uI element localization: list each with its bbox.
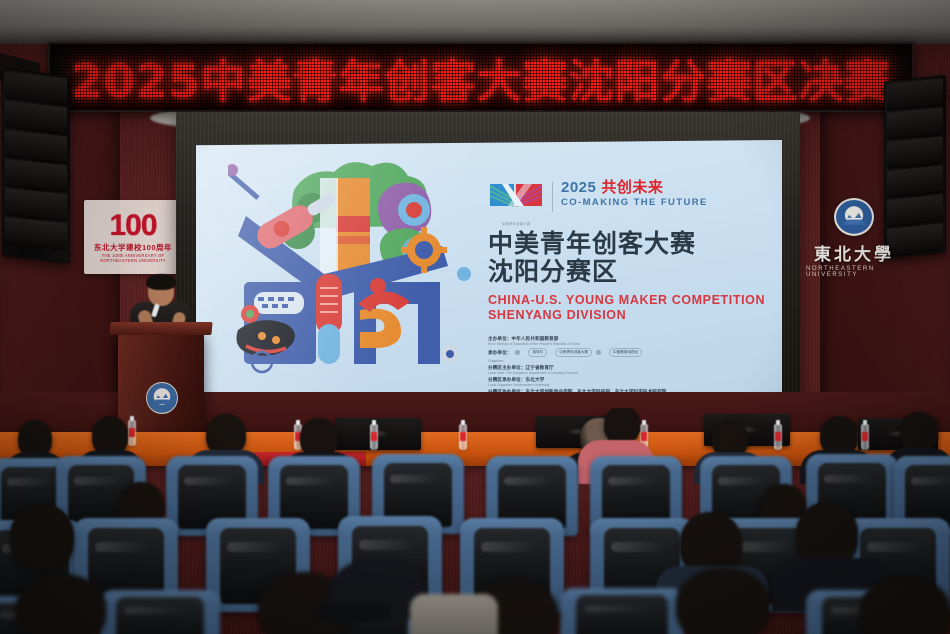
attendee-head <box>16 574 106 634</box>
credit-item: 分赛区主办单位：辽宁省教育厅 Local Host: The Education… <box>488 365 766 375</box>
credit-english: Local Organizer: Northeastern University <box>488 383 766 387</box>
sponsor-mark-icon <box>596 350 601 355</box>
attendee-head <box>860 576 950 634</box>
co-making-the-future-logo-icon: 中美青年创客大赛 <box>488 180 544 214</box>
anniversary-number: 100 <box>109 212 156 240</box>
university-logo: 東北大學 NORTHEASTERN UNIVERSITY <box>806 198 902 278</box>
poster-subtitle-line1: CHINA-U.S. YOUNG MAKER COMPETITION <box>488 293 766 308</box>
brand-row: 中美青年创客大赛 2025共创未来 CO-MAKING THE FUTURE <box>488 180 766 214</box>
attendee-backpack <box>410 594 498 634</box>
brand-headline: 2025共创未来 <box>561 180 708 195</box>
poster-text-block: 中美青年创客大赛 2025共创未来 CO-MAKING THE FUTURE 中… <box>488 180 766 401</box>
auditorium-seat[interactable] <box>560 588 684 634</box>
brand-divider <box>552 182 553 212</box>
credit-item: 承办单位： 英特尔 中美青年创客大赛 中国教育电视台 Organizer: <box>488 348 766 363</box>
attendee-head <box>604 408 640 444</box>
poster-subtitle-line2: SHENYANG DIVISION <box>488 308 766 323</box>
credit-english: Local Host: The Education Department of … <box>488 371 766 375</box>
credit-english: Organizer: <box>488 359 766 363</box>
credit-english: Host: Ministry of Education of the Peopl… <box>488 342 766 346</box>
ceiling <box>0 0 950 44</box>
brand-slogan-english: CO-MAKING THE FUTURE <box>561 198 708 208</box>
projection-screen: 中美青年创客大赛 2025共创未来 CO-MAKING THE FUTURE 中… <box>196 140 782 404</box>
poster-title-line2: 沈阳分赛区 <box>488 258 766 286</box>
poster-artwork <box>228 154 476 376</box>
anniversary-logo: 100 东北大学建校100周年 THE 100th ANNIVERSARY OF… <box>84 200 182 274</box>
credit-chinese: 承办单位： <box>488 350 511 356</box>
credit-item: 主办单位：中华人民共和国教育部 Host: Ministry of Educat… <box>488 336 766 346</box>
university-name-chinese: 東北大學 <box>814 240 894 265</box>
sponsor-mark-icon <box>515 350 520 355</box>
anniversary-chinese: 东北大学建校100周年 <box>94 242 172 253</box>
auditorium-photo: 2025中美青年创客大赛沈阳分赛区决赛 100 东北大学建校100周年 THE … <box>0 0 950 634</box>
audience-area <box>0 408 950 634</box>
poster-credits: 主办单位：中华人民共和国教育部 Host: Ministry of Educat… <box>488 336 766 399</box>
poster-subtitle: CHINA-U.S. YOUNG MAKER COMPETITION SHENY… <box>488 293 766 323</box>
brand-slogan-chinese: 共创未来 <box>601 178 663 196</box>
brand-text: 2025共创未来 CO-MAKING THE FUTURE <box>561 180 708 208</box>
attendee-head <box>900 412 938 452</box>
led-banner: 2025中美青年创客大赛沈阳分赛区决赛 <box>48 42 914 112</box>
poster-title: 中美青年创客大赛 沈阳分赛区 <box>488 230 766 286</box>
auditorium-seat[interactable] <box>100 590 220 634</box>
credit-item: 分赛区承办单位：东北大学 Local Organizer: Northeaste… <box>488 377 766 387</box>
brandmark-caption: 中美青年创客大赛 <box>488 221 544 226</box>
anniversary-english-line2: NORTHEASTERN UNIVERSITY <box>100 258 165 263</box>
attendee-head <box>10 504 74 570</box>
university-seal-icon <box>834 198 874 236</box>
brand-year: 2025 <box>561 179 596 196</box>
line-array-speaker-left <box>2 68 70 263</box>
sponsor-chip: 中美青年创客大赛 <box>555 348 592 357</box>
poster-title-line1: 中美青年创客大赛 <box>488 230 766 258</box>
sponsor-chip: 中国教育电视台 <box>609 348 642 357</box>
attendee-head <box>676 568 770 634</box>
led-banner-text: 2025中美青年创客大赛沈阳分赛区决赛 <box>71 45 890 110</box>
university-name-english: NORTHEASTERN UNIVERSITY <box>806 266 902 278</box>
sponsor-chip: 英特尔 <box>528 348 547 357</box>
